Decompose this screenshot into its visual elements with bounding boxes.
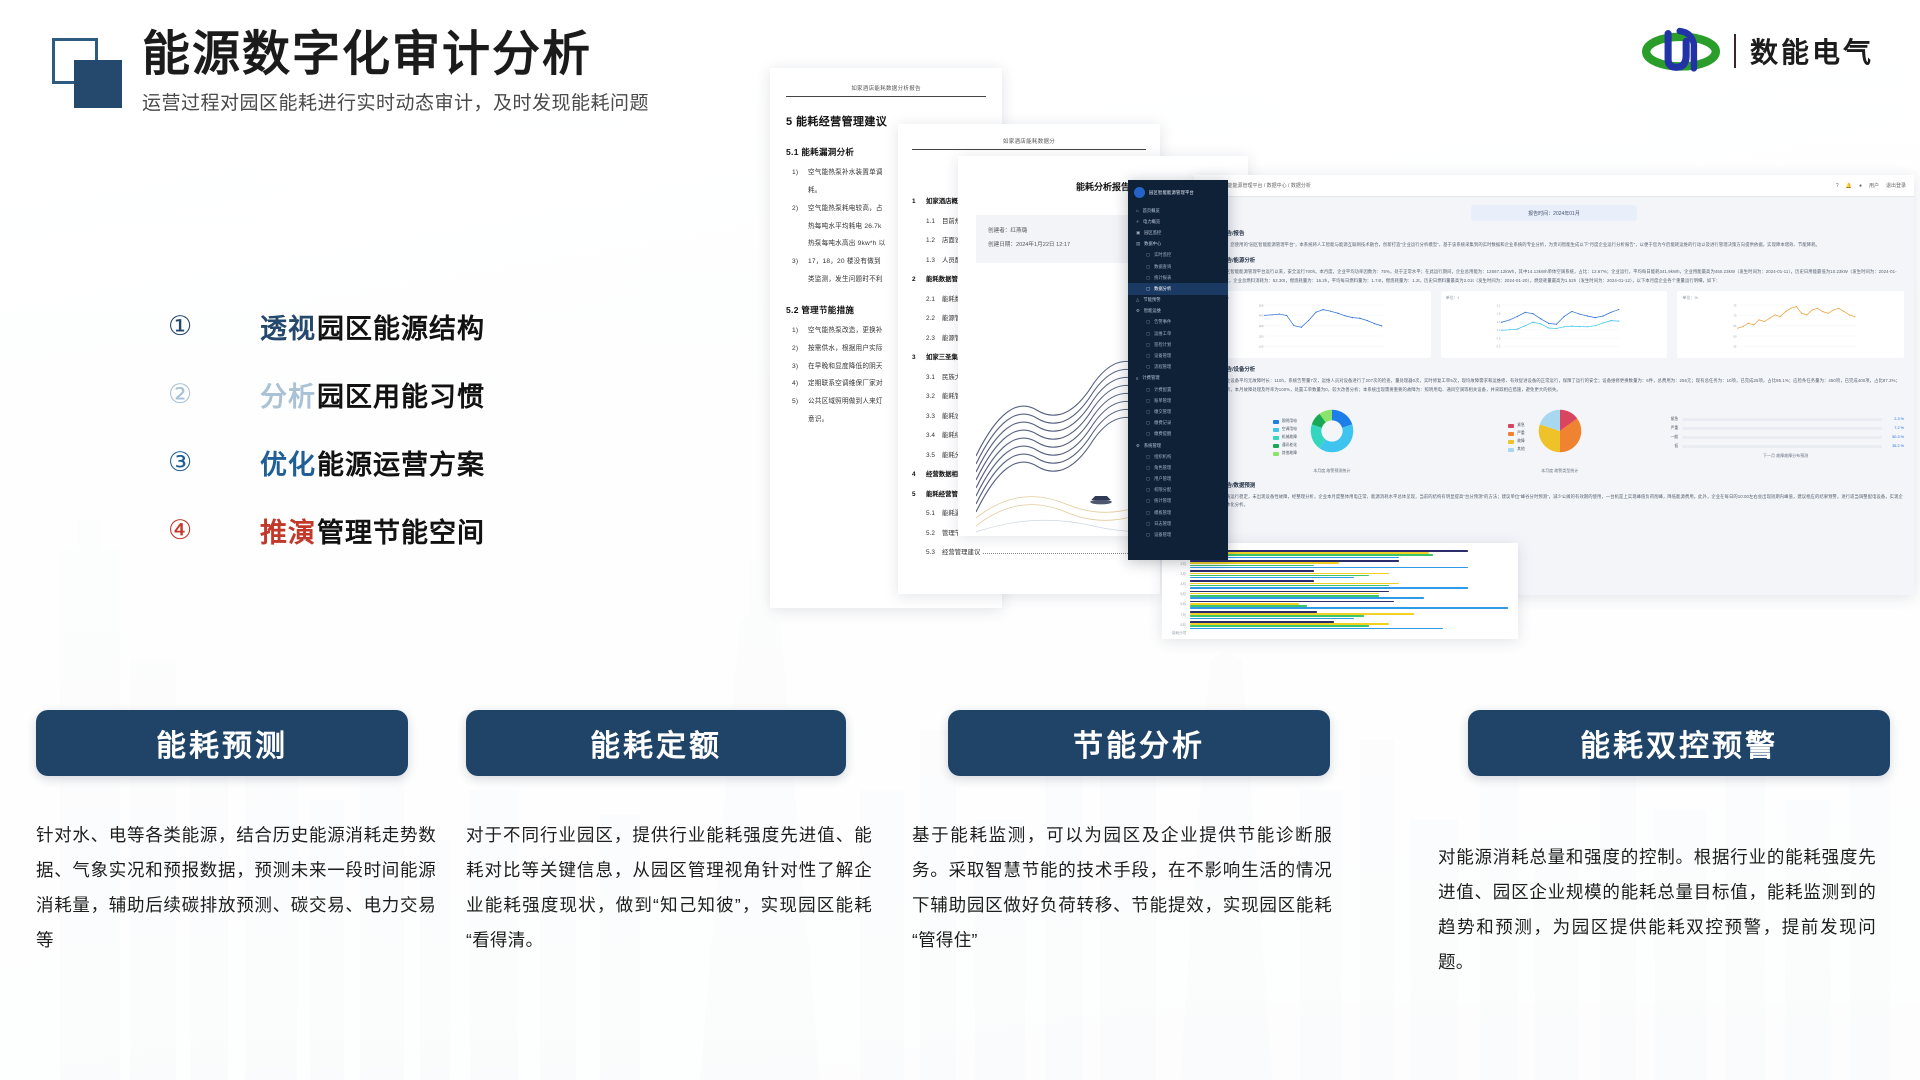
toc-number: 1 [912,198,926,205]
list-marker: 3) [792,361,798,374]
bar [1190,628,1443,630]
bar [1190,597,1424,599]
sidebar-item-园区监控[interactable]: ▣园区监控 [1128,227,1228,238]
bar-group [1190,601,1508,609]
doc-icon: ▢ [1146,521,1150,527]
list-item[interactable]: ① 透视园区能源结构 [168,292,485,360]
help-icon[interactable]: ? [1836,183,1839,189]
sidebar-item-角色管理[interactable]: ▢角色管理 [1128,462,1228,473]
bar-label: 一般 [1667,435,1678,440]
toc-number: 2.2 [926,315,942,322]
sidebar-item-运维工单[interactable]: ▢运维工单 [1128,328,1228,339]
sidebar-item-label: 缴交管理 [1154,409,1171,415]
section-body: 本月份，企业设备平均无故障时长：110h，系统告警量7次，运维人员对设备进行了2… [1204,377,1904,394]
sidebar-item-label: 巡检计划 [1154,342,1171,348]
list-marker: ③ [168,447,212,478]
legend-item: 机械故障 [1273,435,1297,440]
sidebar-item-label: 设备管理 [1154,532,1171,538]
chart-canvas: 7570656055 [1682,303,1899,349]
brand-name: 数能电气 [1750,31,1874,71]
doc-icon: ▢ [1146,532,1150,538]
sidebar-logo-icon [1134,187,1145,198]
sidebar-item-权限分配[interactable]: ▢权限分配 [1128,485,1228,496]
monitor-icon: ▣ [1136,230,1140,236]
sidebar-item-数据查询[interactable]: ▢数据查询 [1128,261,1228,272]
bar-track [1682,418,1882,421]
bar-label: 低 [1667,444,1678,449]
doc-icon: ▢ [1146,252,1150,258]
section-body: 本月度，系统运行稳定，未出现设备性故障，经整理分析，企业本月度整体用电正常，能源… [1204,493,1904,510]
bar-track [1682,445,1882,448]
grouped-bar-row: 6月 [1172,601,1508,609]
database-icon: ▤ [1136,241,1140,247]
legend-swatch [1508,432,1514,436]
list-marker: 1) [792,325,798,338]
grouped-bar-row: 7月 [1172,611,1508,619]
sidebar-item-系统管理[interactable]: ⚙系统管理 [1128,440,1228,451]
running-head: 如家酒店能耗数据分 [912,137,1146,150]
bar-group [1190,611,1508,619]
sidebar-item-label: 权限分配 [1154,487,1171,493]
bar-label: 2月 [1172,562,1186,567]
doc-icon: ▢ [1146,409,1150,415]
sidebar-item-label: 计费配置 [1154,387,1171,393]
sidebar-brand: 园区智能能源管理平台 [1128,180,1228,205]
sidebar-item-电力概览[interactable]: ⚡电力概览 [1128,216,1228,227]
doc-icon: ▢ [1146,498,1150,504]
sidebar-item-label: 园区监控 [1144,230,1161,236]
list-item-rest: 能源运营方案 [317,450,485,480]
sidebar-item-实时监控[interactable]: ▢实时监控 [1128,250,1228,261]
list-marker: 5) [792,396,798,409]
bar [1190,580,1314,582]
sidebar-menu: ⌂首页概览⚡电力概览▣园区监控▤数据中心▢实时监控▢数据查询▢统计报表▢数据分析… [1128,205,1228,541]
line-chart: 单位：%7570656055 [1677,291,1904,358]
list-text: 空气能热泵耗电较高，占 [808,205,883,212]
sidebar-item-label: 缴费提醒 [1154,431,1171,437]
bar-group [1190,570,1508,578]
legend-label: 紧急 [1517,423,1525,428]
sidebar-item-label: 组织机构 [1154,454,1171,460]
list-item[interactable]: ④ 推演管理节能空间 [168,496,485,564]
sidebar-item-流程管理[interactable]: ▢流程管理 [1128,362,1228,373]
running-head: 如家酒店能耗数据分析报告 [786,84,986,97]
bar-label: 8月 [1172,623,1186,628]
home-icon: ⌂ [1136,208,1139,213]
page-title: 能源数字化审计分析 [142,28,649,82]
bar [1190,565,1314,567]
money-icon: ¤ [1136,376,1138,381]
list-text: 17，18，20 楼没有做到 [808,258,881,265]
grouped-bar-row: 5月 [1172,591,1508,599]
toc-leader [983,553,1144,554]
list-item-highlight: 分析 [260,382,316,412]
legend-item: 空调用电 [1273,427,1297,432]
svg-text:2.1: 2.1 [1496,303,1500,307]
sidebar-item-label: 缴费记录 [1154,420,1171,426]
report-period-pill: 报告时间：2024年01月 [1471,205,1637,221]
svg-text:1.5: 1.5 [1496,320,1500,324]
bar-group [1190,621,1508,629]
bar-label: 5月 [1172,592,1186,597]
doc-icon: ▢ [1146,387,1150,393]
bolt-icon: ⚡ [1136,219,1139,225]
legend-swatch [1273,436,1279,440]
list-text: 空气能热泵补水装置单调 [808,169,883,176]
svg-text:60: 60 [1734,334,1738,338]
list-item-label: 透视园区能源结构 [260,307,485,346]
list-item-label: 分析园区用能习惯 [260,375,485,414]
bar-chart-caption: 能耗分项 [1172,631,1508,636]
sidebar-item-label: 节能预警 [1143,297,1160,303]
bar [1190,618,1354,620]
line-chart-row: 单位：kWh500400300200100单位：t2.11.81.51.20.9… [1204,291,1904,358]
avatar[interactable]: ● [1859,183,1862,189]
sidebar-item-用户管理[interactable]: ▢用户管理 [1128,474,1228,485]
sidebar-brand-label: 园区智能能源管理平台 [1149,190,1194,196]
sidebar-item-计费管理[interactable]: ¤计费管理 [1128,373,1228,384]
svg-text:55: 55 [1734,345,1738,349]
gear-icon: ⚙ [1136,443,1140,449]
pie-canvas [1531,402,1589,460]
sidebar-item-统计报表[interactable]: ▢统计报表 [1128,272,1228,283]
list-text: 在早晚和显度降低的阴天 [808,363,883,370]
sidebar-item-label: 统计管理 [1154,498,1171,504]
list-text: 定期联系空调维保厂家对 [808,380,883,387]
svg-text:200: 200 [1259,334,1264,338]
section-header: 数据报告/数据预测 [1204,481,1904,489]
bar-track [1682,436,1882,439]
toc-number: 3.1 [926,374,942,381]
line-chart: 单位：t2.11.81.51.20.90.3 [1441,291,1668,358]
brand-divider [1734,34,1736,68]
bar-label: 紧急 [1667,417,1678,422]
fault-forecast-bars: 紧急2.3 %严重7.2 %一般50.3 %低35.2 %下一月 故障故障分布预… [1667,417,1904,459]
legend-swatch [1508,448,1514,452]
sidebar-item-首页概览[interactable]: ⌂首页概览 [1128,205,1228,216]
feature-card-title[interactable]: 能耗双控预警 [1468,710,1890,776]
svg-text:75: 75 [1734,303,1738,307]
legend-label: 其他 [1517,447,1525,452]
sidebar-item-设备管理[interactable]: ▢设备管理 [1128,529,1228,540]
legend-label: 照明用电 [1282,419,1297,424]
pie-chart: 紧急严重故障其他本月度 故警类型统计 [1436,402,1662,474]
bar [1190,577,1354,579]
pie-canvas-wrap: 本月度 故警预测统计 [1303,402,1361,474]
legend-label: 空调用电 [1282,427,1297,432]
list-text: 类监测，发生问题时不利 [808,276,883,283]
sidebar-item-计费配置[interactable]: ▢计费配置 [1128,384,1228,395]
feature-card-title[interactable]: 能耗预测 [36,710,408,776]
logout-button[interactable]: 退出登录 [1886,182,1906,189]
svg-text:0.3: 0.3 [1496,345,1500,349]
chart-caption: 本月度 故警类型统计 [1531,468,1589,474]
bar-label: 严重 [1667,426,1678,431]
doc-icon: ▢ [1146,331,1150,337]
doc-icon: ▢ [1146,342,1150,348]
svg-text:1.2: 1.2 [1496,328,1500,332]
doc-icon: ▢ [1146,487,1150,493]
list-text: 意识。 [808,416,828,423]
sidebar-item-label: 账单管理 [1154,398,1171,404]
bar-value: 7.2 % [1886,426,1904,430]
bar [1190,570,1314,572]
list-marker: ② [168,379,212,410]
sidebar-item-label: 统计报表 [1154,275,1171,281]
list-item-highlight: 透视 [260,314,316,344]
pie-chart-row: 照明用电空调用电机械故障通讯老化其他故障本月度 故警预测统计紧急严重故障其他本月… [1204,402,1904,474]
list-marker: 1) [792,167,798,180]
legend-item: 紧急 [1508,423,1525,428]
toc-number: 3 [912,354,926,361]
doc-icon: ▢ [1146,420,1150,426]
chart-unit: 单位：t [1446,295,1663,301]
toc-number: 2.3 [926,335,942,342]
svg-text:0.9: 0.9 [1496,337,1500,341]
list-item-rest: 管理节能空间 [317,518,485,548]
toc-number: 3.4 [926,432,942,439]
dashboard-topbar: ☰ 园区智能能源管理平台 / 数据中心 / 数据分析 ? 🔔 ● 用户 退出登录 [1194,175,1914,197]
grouped-bar-row: 8月 [1172,621,1508,629]
sidebar-item-label: 数据查询 [1154,264,1171,270]
sidebar-item-数据中心[interactable]: ▤数据中心 [1128,239,1228,250]
svg-text:400: 400 [1259,314,1264,318]
sidebar-item-label: 电力概览 [1143,219,1160,225]
section-body: 该月度在园区智能能源管理平台运行以来，安全运行700h。本月度，企业平均功率因数… [1204,268,1904,285]
legend-item: 照明用电 [1273,419,1297,424]
list-item-highlight: 推演 [260,518,316,548]
sidebar-item-组织机构[interactable]: ▢组织机构 [1128,451,1228,462]
legend-item: 通讯老化 [1273,443,1297,448]
bar-value: 35.2 % [1886,444,1904,448]
doc-icon: ▢ [1146,286,1150,292]
toc-number: 2.1 [926,296,942,303]
bar-group [1190,550,1508,558]
chart-legend: 紧急严重故障其他 [1508,423,1525,452]
bar-track [1682,427,1882,430]
legend-label: 故障 [1517,439,1525,444]
toc-entry[interactable]: 5.3经营管理建议 [912,547,1146,556]
list-item[interactable]: ② 分析园区用能习惯 [168,360,485,428]
bar-row: 低35.2 % [1667,444,1904,449]
feature-card-body: 基于能耗监测，可以为园区及企业提供节能诊断服务。采取智慧节能的技术手段，在不影响… [912,818,1332,958]
bell-icon[interactable]: 🔔 [1846,183,1852,189]
sidebar-item-label: 智能运维 [1144,308,1161,314]
dashboard-sidebar-preview[interactable]: 园区智能能源管理平台 ⌂首页概览⚡电力概览▣园区监控▤数据中心▢实时监控▢数据查… [1128,180,1228,560]
list-text: 耗。 [808,187,822,194]
list-marker: ① [168,311,212,342]
feature-card-body: 针对水、电等各类能源，结合历史能源消耗走势数据、气象实况和预报数据，预测未来一段… [36,818,436,958]
feature-card-title[interactable]: 能耗定额 [466,710,846,776]
legend-item: 严重 [1508,431,1525,436]
feature-card-body: 对于不同行业园区，提供行业能耗强度先进值、能耗对比等关键信息，从园区管理视角针对… [466,818,872,958]
chart-canvas: 2.11.81.51.20.90.3 [1446,303,1663,349]
bar-value: 2.3 % [1886,417,1904,421]
list-item-rest: 园区用能习惯 [317,382,485,412]
toc-number: 5 [912,491,926,498]
bar-row: 严重7.2 % [1667,426,1904,431]
doc-icon: ▢ [1146,431,1150,437]
doc-icon: ▢ [1146,465,1150,471]
legend-label: 严重 [1517,431,1525,436]
list-marker: 4) [792,378,798,391]
legend-item: 其他 [1508,447,1525,452]
list-marker: 2) [792,203,798,216]
legend-swatch [1273,444,1279,448]
doc-icon: ▢ [1146,264,1150,270]
toc-number: 1.2 [926,237,942,244]
sidebar-item-label: 角色管理 [1154,465,1171,471]
legend-swatch [1508,424,1514,428]
wrench-icon: ⚙ [1136,308,1140,314]
toc-number: 1.3 [926,257,942,264]
numbered-feature-list: ① 透视园区能源结构 ② 分析园区用能习惯 ③ 优化能源运营方案 ④ 推演管理节… [168,292,485,564]
bar [1190,567,1468,569]
chart-legend: 照明用电空调用电机械故障通讯老化其他故障 [1273,419,1297,456]
bar [1190,573,1389,575]
sidebar-item-模板管理[interactable]: ▢模板管理 [1128,507,1228,518]
page-subtitle: 运营过程对园区能耗进行实时动态审计，及时发现能耗问题 [142,88,649,115]
sidebar-item-缴费记录[interactable]: ▢缴费记录 [1128,418,1228,429]
sidebar-item-label: 模板管理 [1154,510,1171,516]
svg-text:65: 65 [1734,324,1738,328]
chart-caption: 本月度 故警预测统计 [1303,468,1361,474]
grouped-bar-row: 4月 [1172,580,1508,588]
sidebar-item-label: 首页概览 [1143,208,1160,214]
dashboard-body: 报告时间：2024年01月 数据报告/报告 尊敬的用户，您使用的“园区智能能源管… [1194,197,1914,518]
section-header: 数据报告/能源分析 [1204,256,1904,264]
sidebar-item-缴交管理[interactable]: ▢缴交管理 [1128,406,1228,417]
svg-text:100: 100 [1259,345,1264,349]
doc-icon: ▢ [1146,476,1150,482]
svg-text:70: 70 [1734,314,1738,318]
pie-chart: 照明用电空调用电机械故障通讯老化其他故障本月度 故警预测统计 [1204,402,1430,474]
legend-swatch [1273,420,1279,424]
svg-text:1.8: 1.8 [1496,312,1500,316]
bar-label: 4月 [1172,582,1186,587]
sidebar-item-设备管理[interactable]: ▢设备管理 [1128,350,1228,361]
list-item-rest: 园区能源结构 [317,314,485,344]
doc-icon: ▢ [1146,398,1150,404]
doc-icon: ▢ [1146,353,1150,359]
sidebar-item-数据分析[interactable]: ▢数据分析 [1128,283,1228,294]
sidebar-item-巡检计划[interactable]: ▢巡检计划 [1128,339,1228,350]
section-header: 数据报告/报告 [1204,229,1904,237]
legend-label: 其他故障 [1282,451,1297,456]
toc-label: 经营管理建议 [942,547,980,556]
sidebar-item-label: 用户管理 [1154,476,1171,482]
bar-label: 7月 [1172,613,1186,618]
chart-canvas: 500400300200100 [1209,303,1426,349]
pie-canvas [1303,402,1361,460]
bar-label: 6月 [1172,602,1186,607]
sidebar-item-日志管理[interactable]: ▢日志管理 [1128,518,1228,529]
sidebar-item-智能运维[interactable]: ⚙智能运维 [1128,306,1228,317]
chart-caption: 下一月 故障故障分布预测 [1667,453,1904,459]
sidebar-item-label: 日志管理 [1154,521,1171,527]
bar-group [1190,580,1508,588]
sidebar-item-节能预警[interactable]: △节能预警 [1128,295,1228,306]
sidebar-item-统计管理[interactable]: ▢统计管理 [1128,496,1228,507]
toc-number: 5.3 [926,549,942,556]
toc-number: 1.1 [926,218,942,225]
list-item-label: 优化能源运营方案 [260,443,485,482]
toc-number: 5.2 [926,530,942,537]
list-item[interactable]: ③ 优化能源运营方案 [168,428,485,496]
bar-row: 一般50.3 % [1667,435,1904,440]
sidebar-item-label: 计费管理 [1142,375,1159,381]
list-marker: 2) [792,343,798,356]
toc-number: 3.5 [926,452,942,459]
bar-group [1190,560,1508,568]
bar-label: 3月 [1172,572,1186,577]
legend-swatch [1273,428,1279,432]
chart-unit: 单位：kWh [1209,295,1426,301]
bar-row: 紧急2.3 % [1667,417,1904,422]
alert-icon: △ [1136,297,1139,303]
bar [1190,587,1468,589]
bar [1190,562,1339,564]
list-text: 热每吨水平均耗电 26.7k [808,223,882,230]
toc-number: 3.2 [926,393,942,400]
list-marker: ④ [168,515,212,546]
legend-item: 其他故障 [1273,451,1297,456]
feature-card-title[interactable]: 节能分析 [948,710,1330,776]
section-header: 数据报告/设备分析 [1204,365,1904,373]
list-item-highlight: 优化 [260,450,316,480]
sidebar-item-label: 实时监控 [1154,252,1171,258]
dashboard-preview[interactable]: ☰ 园区智能能源管理平台 / 数据中心 / 数据分析 ? 🔔 ● 用户 退出登录… [1194,175,1914,595]
legend-label: 通讯老化 [1282,443,1297,448]
user-label: 用户 [1869,182,1879,189]
list-text: 空气能热泵改造，更换补 [808,327,883,334]
sidebar-item-label: 运维工单 [1154,331,1171,337]
two-squares-icon [48,34,126,112]
bar [1190,607,1508,609]
section-body: 尊敬的用户，您使用的“园区智能能源管理平台”，本系统将人工智能与能源互联网技术融… [1204,241,1904,249]
sidebar-item-label: 设备管理 [1154,353,1171,359]
bar [1190,615,1364,617]
sidebar-item-告警事件[interactable]: ▢告警事件 [1128,317,1228,328]
legend-swatch [1508,440,1514,444]
sidebar-item-label: 数据中心 [1144,241,1161,247]
toc-number: 5.1 [926,510,942,517]
toc-number: 3.3 [926,413,942,420]
bar-value: 50.3 % [1886,435,1904,439]
toc-number: 2 [912,276,926,283]
grouped-bar-row: 3月 [1172,570,1508,578]
list-text: 热泵每吨水高出 9kw*h 以 [808,240,885,247]
sidebar-item-缴费提醒[interactable]: ▢缴费提醒 [1128,429,1228,440]
doc-icon: ▢ [1146,364,1150,370]
legend-item: 故障 [1508,439,1525,444]
toc-number: 4 [912,471,926,478]
sidebar-item-label: 数据分析 [1154,286,1171,292]
topbar-actions: ? 🔔 ● 用户 退出登录 [1836,182,1906,189]
bar [1190,625,1369,627]
preview-collage: 如家酒店能耗数据分析报告 5 能耗经营管理建议 5.1 能耗漏洞分析 1)空气能… [770,68,1890,668]
sidebar-item-label: 流程管理 [1154,364,1171,370]
bar [1190,591,1389,593]
page-header: 能源数字化审计分析 运营过程对园区能耗进行实时动态审计，及时发现能耗问题 [48,28,649,115]
sidebar-item-label: 系统管理 [1144,443,1161,449]
doc-icon: ▢ [1146,510,1150,516]
sidebar-item-账单管理[interactable]: ▢账单管理 [1128,395,1228,406]
chart-unit: 单位：% [1682,295,1899,301]
list-text: 公共区域照明做到人来灯 [808,398,883,405]
feature-card-body: 对能源消耗总量和强度的控制。根据行业的能耗强度先进值、园区企业规模的能耗总量目标… [1438,840,1876,980]
list-item-label: 推演管理节能空间 [260,511,485,550]
